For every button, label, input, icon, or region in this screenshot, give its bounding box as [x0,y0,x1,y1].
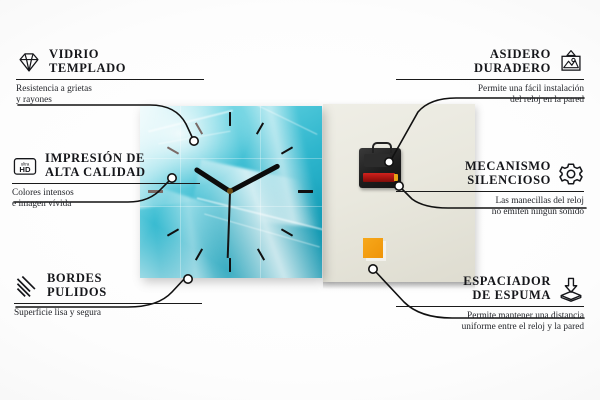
feature-desc-line2: y rayones [16,95,204,106]
hour-tick [281,146,293,154]
feature-bordes-pulidos[interactable]: BORDES PULIDOS Superficie lisa y segura [14,272,202,319]
feature-desc-line2: del reloj en la pared [396,95,584,106]
feature-title-line2: DURADERO [474,62,551,76]
mechanism-hook [372,142,392,153]
feature-title-line2: SILENCIOSO [465,174,551,188]
minute-hand [229,163,281,194]
feature-header: ESPACIADOR DE ESPUMA [396,275,584,302]
feature-desc-line2: e imagen vívida [12,199,200,210]
feature-header: ASIDERO DURADERO [396,48,584,75]
feature-desc-line2: uniforme entre el reloj y la pared [396,322,584,333]
polished-edges-icon [14,273,40,299]
feature-title-line2: PULIDOS [47,286,107,300]
divider [396,191,584,192]
feature-title-line2: TEMPLADO [49,62,126,76]
gear-icon [558,161,584,187]
feature-title-line1: BORDES [47,272,107,286]
feature-desc-line1: Resistencia a grietas [16,84,204,95]
feature-title-line1: ESPACIADOR [463,275,551,289]
feature-header: MECANISMO SILENCIOSO [396,160,584,187]
hanging-frame-icon [558,49,584,75]
feature-header: VIDRIO TEMPLADO [16,48,204,75]
foam-spacer-icon [558,276,584,302]
divider [16,79,204,80]
battery [363,173,395,182]
feather-streak [148,109,233,132]
ultra-hd-icon: ultra HD [12,153,38,179]
feature-header: ultra HD IMPRESIÓN DE ALTA CALIDAD [12,152,200,179]
feature-title-line2: DE ESPUMA [463,289,551,303]
hour-tick [229,258,231,272]
feather-streak [204,213,320,247]
feature-title-line1: MECANISMO [465,160,551,174]
feature-vidrio-templado[interactable]: VIDRIO TEMPLADO Resistencia a grietas y … [16,48,204,106]
feature-asidero-duradero[interactable]: ASIDERO DURADERO Permite una fácil insta… [396,48,584,106]
feature-header: BORDES PULIDOS [14,272,202,299]
svg-text:HD: HD [19,165,31,174]
feature-mecanismo-silencioso[interactable]: MECANISMO SILENCIOSO Las manecillas del … [396,160,584,218]
mechanism-housing [364,154,390,167]
infographic-canvas: VIDRIO TEMPLADO Resistencia a grietas y … [0,0,600,400]
hour-tick [229,112,231,126]
feature-title-line1: ASIDERO [474,48,551,62]
hour-tick [298,190,313,193]
foam-spacer-pad [363,238,383,258]
feature-desc-line1: Permite mantener una distancia [396,311,584,322]
feature-title-line1: VIDRIO [49,48,126,62]
feather-streak [232,106,317,135]
hour-tick [195,122,203,134]
feature-desc-line2: no emiten ningún sonido [396,207,584,218]
divider [396,79,584,80]
hour-tick [195,248,203,260]
feature-impresion-alta-calidad[interactable]: ultra HD IMPRESIÓN DE ALTA CALIDAD Color… [12,152,200,210]
feature-desc-line1: Permite una fácil instalación [396,84,584,95]
feature-desc-line1: Las manecillas del reloj [396,196,584,207]
feature-desc-line1: Colores intensos [12,188,200,199]
second-hand [227,192,231,258]
divider [12,183,200,184]
feature-espaciador-de-espuma[interactable]: ESPACIADOR DE ESPUMA Permite mantener un… [396,275,584,333]
hour-tick [167,228,179,236]
feature-title-line2: ALTA CALIDAD [45,166,146,180]
divider [396,306,584,307]
feature-title-line1: IMPRESIÓN DE [45,152,146,166]
hands-center-cap [227,188,233,194]
clock-mechanism [359,148,401,188]
feature-desc-line1: Superficie lisa y segura [14,308,202,319]
feather-streak [159,131,231,145]
divider [14,303,202,304]
diamond-icon [16,49,42,75]
